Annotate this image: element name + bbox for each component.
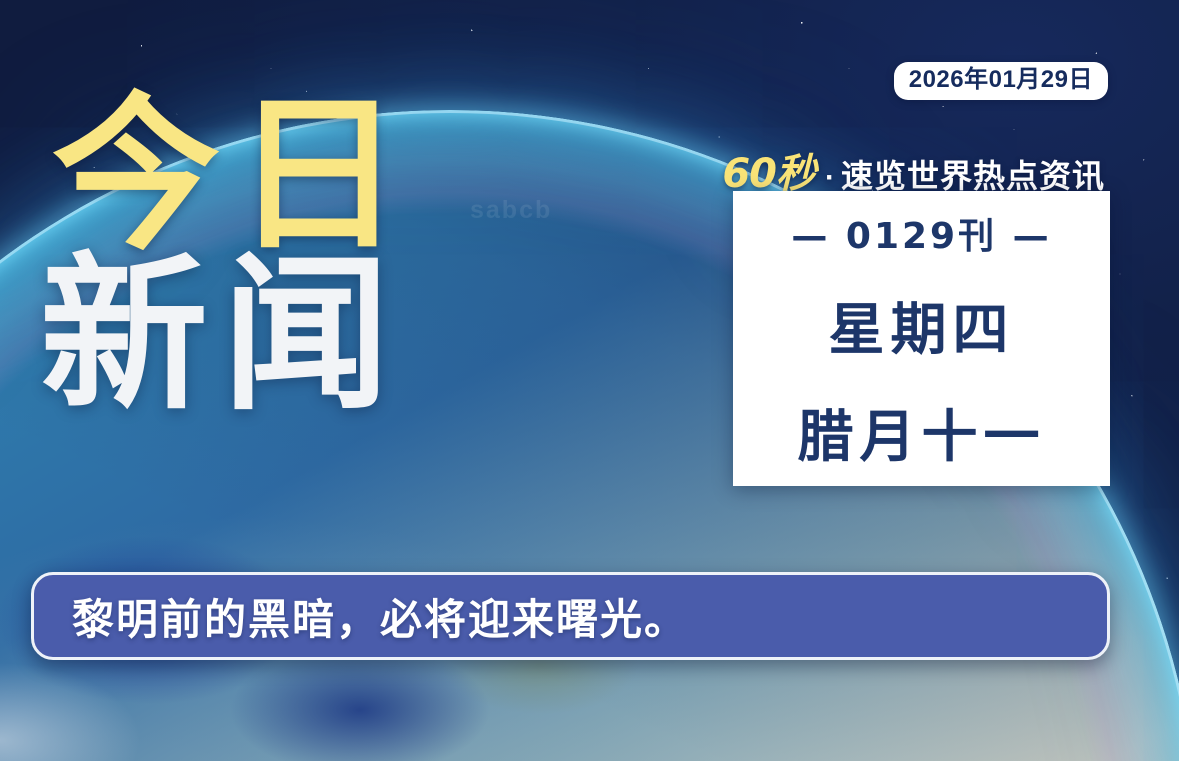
headline-line-2: 新闻: [40, 252, 416, 418]
news-poster: sabcb 2026年01月29日 60秒 · 速览世界热点资讯 今日 新闻 —…: [0, 0, 1179, 761]
page-title: 今日 新闻: [52, 92, 416, 419]
info-card: — 0129刊 — 星期四 腊月十一: [733, 191, 1110, 486]
weekday-label: 星期四: [829, 285, 1015, 366]
tagline-separator: ·: [815, 161, 841, 195]
watermark-text: sabcb: [470, 196, 552, 225]
quote-text: 黎明前的黑暗，必将迎来曙光。: [34, 586, 688, 647]
date-badge: 2026年01月29日: [894, 62, 1108, 100]
headline-line-1: 今日: [52, 92, 416, 258]
quote-banner: 黎明前的黑暗，必将迎来曙光。: [31, 572, 1110, 660]
issue-number: — 0129刊 —: [791, 207, 1051, 259]
lunar-date: 腊月十一: [798, 392, 1046, 473]
